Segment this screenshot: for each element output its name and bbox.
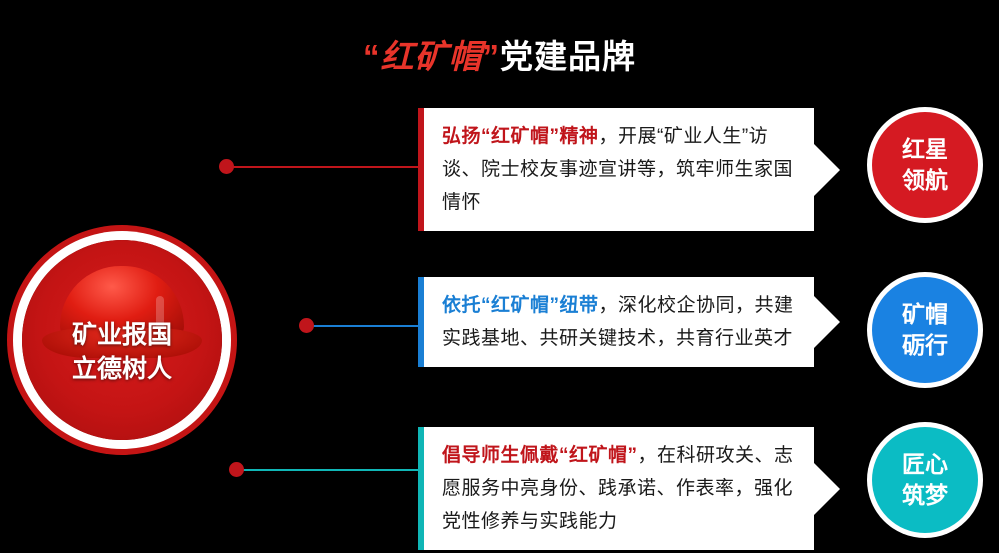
outcome-circle-2-line2: 砺行: [902, 330, 948, 361]
connector-line-1: [228, 166, 418, 168]
emblem-label-line2: 立德树人: [22, 352, 222, 386]
content-panel-3: 倡导师生佩戴“红矿帽”，在科研攻关、志愿服务中亮身份、践承诺、作表率，强化党性修…: [418, 427, 814, 550]
outcome-circle-1: 红星 领航: [872, 112, 978, 218]
panel-1-highlight: 弘扬“红矿帽”精神: [442, 126, 599, 147]
outcome-circle-3-line1: 匠心: [902, 449, 948, 480]
outcome-circle-1-line1: 红星: [902, 134, 948, 165]
emblem-circle: 矿业报国 立德树人: [22, 240, 222, 440]
panel-2-arrow-icon: [814, 296, 840, 348]
emblem-label: 矿业报国 立德树人: [22, 318, 222, 386]
emblem-label-line1: 矿业报国: [22, 318, 222, 352]
title-quote-open: “: [363, 38, 381, 75]
panel-2-highlight: 依托“红矿帽”纽带: [442, 295, 599, 316]
content-panel-2: 依托“红矿帽”纽带，深化校企协同，共建实践基地、共研关键技术，共育行业英才: [418, 277, 814, 367]
outcome-circle-2-line1: 矿帽: [902, 299, 948, 330]
connector-dot-1: [219, 159, 234, 174]
content-panel-1: 弘扬“红矿帽”精神，开展“矿业人生”访谈、院士校友事迹宣讲等，筑牢师生家国情怀: [418, 108, 814, 231]
panel-1-arrow-icon: [814, 144, 840, 196]
outcome-circle-3-line2: 筑梦: [902, 480, 948, 511]
title-brand: 红矿帽: [381, 40, 483, 76]
connector-dot-3: [229, 462, 244, 477]
panel-3-arrow-icon: [814, 463, 840, 515]
connector-line-2: [308, 325, 418, 327]
outcome-circle-3: 匠心 筑梦: [872, 427, 978, 533]
connector-line-3: [238, 469, 418, 471]
title-quote-close: ”: [483, 38, 501, 75]
connector-dot-2: [299, 318, 314, 333]
title-rest: 党建品牌: [500, 38, 636, 75]
outcome-circle-1-line2: 领航: [902, 165, 948, 196]
panel-3-highlight: 倡导师生佩戴“红矿帽”: [442, 445, 638, 466]
page-title: “红矿帽”党建品牌: [0, 30, 999, 78]
outcome-circle-2: 矿帽 砺行: [872, 277, 978, 383]
